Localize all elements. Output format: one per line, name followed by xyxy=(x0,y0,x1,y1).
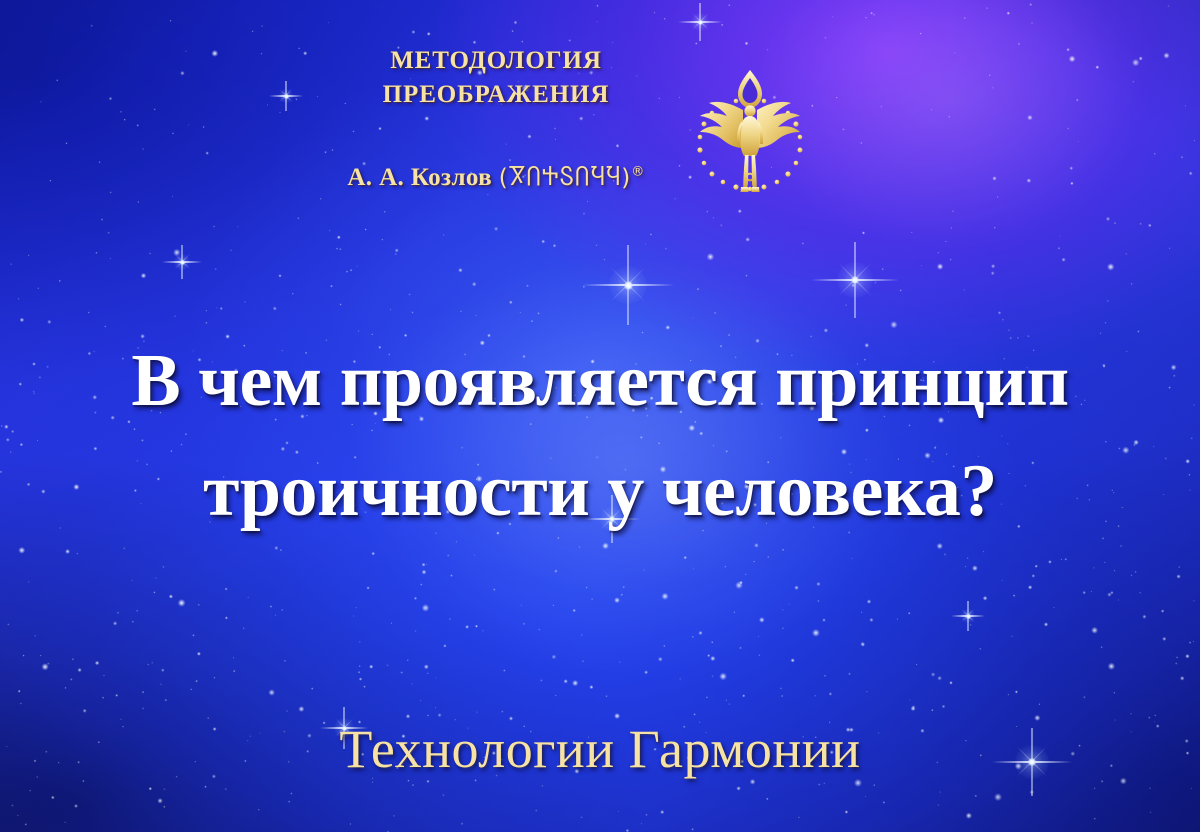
brand-line-2: ПРЕОБРАЖЕНИЯ xyxy=(316,78,676,112)
registered-trademark-icon: ® xyxy=(631,165,644,180)
star-glint xyxy=(811,236,899,324)
footer-tagline: Технологии Гармонии xyxy=(0,718,1200,780)
star-glint xyxy=(678,0,722,44)
brand-line-1: МЕТОДОЛОГИЯ xyxy=(316,44,676,78)
slide-title-line-2: троичности у человека? xyxy=(0,436,1200,546)
brand-title: МЕТОДОЛОГИЯ ПРЕОБРАЖЕНИЯ xyxy=(316,44,676,112)
star-glint xyxy=(951,599,985,633)
title-slide: МЕТОДОЛОГИЯ ПРЕОБРАЖЕНИЯ А. А. Козлов (Ⴟ… xyxy=(0,0,1200,832)
slide-title-line-1: В чем проявляется принцип xyxy=(0,326,1200,436)
slide-title: В чем проявляется принцип троичности у ч… xyxy=(0,326,1200,546)
author-paren-close: ) xyxy=(621,165,631,191)
author-paren-open: ( xyxy=(499,165,509,191)
star-glint xyxy=(582,239,674,331)
star-glint xyxy=(162,242,202,282)
winged-angel-emblem xyxy=(675,56,825,206)
star-glint xyxy=(269,79,303,113)
emblem-wing-left xyxy=(700,102,743,148)
author-rune-glyphs: ႿႶႵႽႶႯႯ xyxy=(509,165,622,191)
author-name: А. А. Козлов xyxy=(347,164,492,191)
emblem-wing-right xyxy=(757,102,800,148)
